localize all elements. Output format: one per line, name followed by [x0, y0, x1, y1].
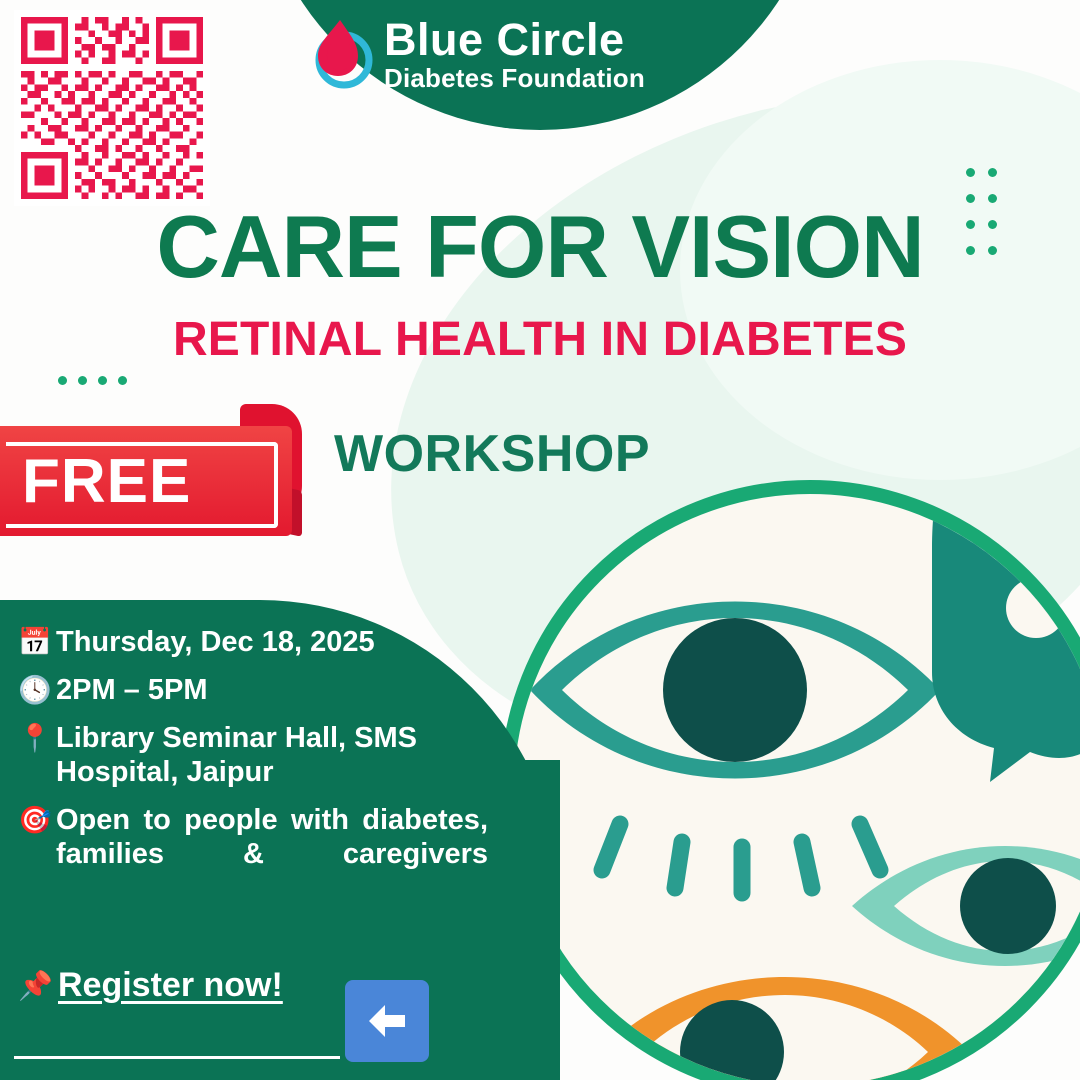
- back-button[interactable]: [345, 980, 429, 1062]
- location-pin-icon: 📍: [18, 722, 56, 756]
- target-icon: 🎯: [18, 804, 56, 838]
- detail-row-date: 📅 Thursday, Dec 18, 2025: [18, 626, 488, 660]
- page-title: CARE FOR VISION: [0, 196, 1080, 298]
- workshop-label: WORKSHOP: [334, 424, 650, 484]
- dot-row-left: [58, 376, 138, 390]
- event-details: 📅 Thursday, Dec 18, 2025 🕓 2PM – 5PM 📍 L…: [18, 626, 488, 886]
- eyes-illustration: [470, 452, 1080, 1080]
- detail-date: Thursday, Dec 18, 2025: [56, 626, 375, 660]
- detail-row-venue: 📍 Library Seminar Hall, SMS Hospital, Ja…: [18, 722, 488, 790]
- detail-audience: Open to people with diabetes, families &…: [56, 804, 488, 872]
- qr-code[interactable]: [14, 10, 210, 206]
- detail-venue: Library Seminar Hall, SMS Hospital, Jaip…: [56, 722, 488, 790]
- poster-canvas: Blue Circle Diabetes Foundation CARE FOR…: [0, 0, 1080, 1080]
- calendar-icon: 📅: [18, 626, 56, 660]
- pushpin-icon: 📌: [18, 969, 58, 1002]
- divider: [14, 1056, 340, 1059]
- blue-circle-flame-logo-icon: [306, 16, 378, 92]
- arrow-left-icon: [359, 993, 415, 1049]
- qr-code-icon: [14, 10, 210, 206]
- detail-row-audience: 🎯 Open to people with diabetes, families…: [18, 804, 488, 872]
- free-ribbon: FREE: [0, 392, 322, 552]
- free-label: FREE: [22, 444, 272, 518]
- detail-time: 2PM – 5PM: [56, 674, 208, 708]
- brand-name-line1: Blue Circle: [384, 17, 645, 63]
- brand-logo: Blue Circle Diabetes Foundation: [306, 6, 726, 102]
- clock-icon: 🕓: [18, 674, 56, 708]
- brand-name-line2: Diabetes Foundation: [384, 65, 645, 92]
- detail-row-time: 🕓 2PM – 5PM: [18, 674, 488, 708]
- register-label[interactable]: Register now!: [58, 966, 283, 1005]
- dot-grid-right: [966, 168, 1006, 264]
- page-subtitle: RETINAL HEALTH IN DIABETES: [0, 312, 1080, 367]
